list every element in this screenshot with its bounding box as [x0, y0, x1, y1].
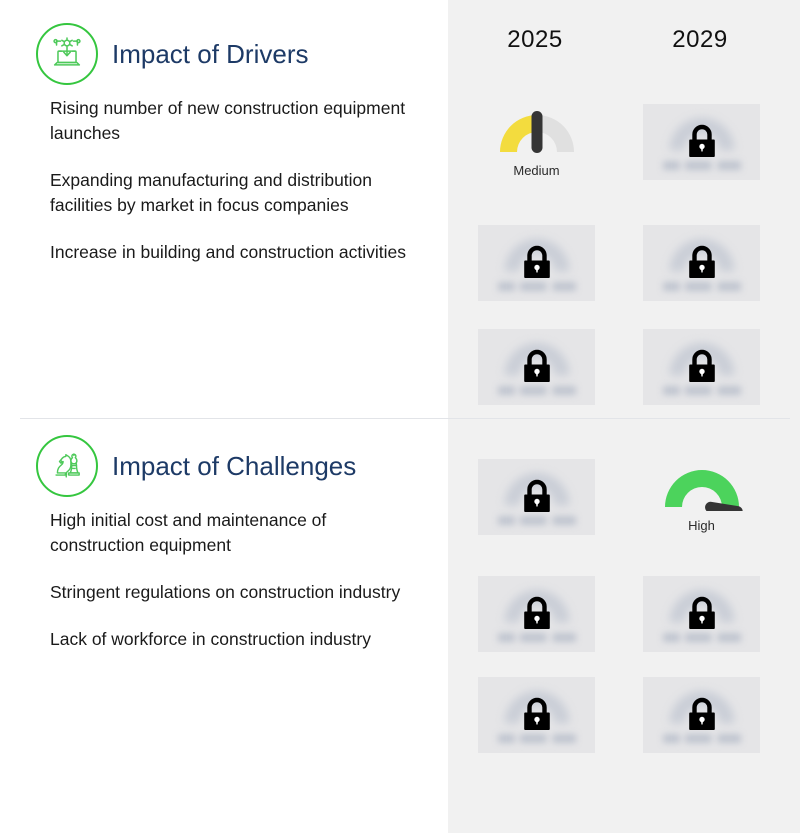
blurred-label-placeholder: [498, 282, 576, 291]
locked-metric[interactable]: [643, 225, 760, 301]
gauge-medium-svg: [496, 106, 578, 156]
metric-cell-drivers-1-2025[interactable]: [478, 225, 595, 301]
locked-metric[interactable]: [478, 677, 595, 753]
section-title-challenges: Impact of Challenges: [112, 451, 356, 482]
lock-icon: [685, 348, 719, 386]
gauge-level-label: Medium: [478, 163, 595, 178]
metric-cell-challenges-1-2025[interactable]: [478, 576, 595, 652]
lock-icon: [520, 595, 554, 633]
locked-metric[interactable]: [643, 104, 760, 180]
section-divider: [20, 418, 790, 419]
list-item: Expanding manufacturing and distribution…: [0, 168, 448, 218]
blurred-label-placeholder: [663, 633, 741, 642]
list-item: High initial cost and maintenance of con…: [0, 508, 448, 558]
blurred-label-placeholder: [498, 633, 576, 642]
metric-cell-challenges-2-2029[interactable]: [643, 677, 760, 753]
blurred-label-placeholder: [663, 282, 741, 291]
column-header-row: 2025 2029: [448, 0, 800, 80]
locked-metric[interactable]: [478, 459, 595, 535]
locked-metric[interactable]: [478, 576, 595, 652]
section-challenges: Impact of Challenges High initial cost a…: [0, 430, 448, 652]
metric-cell-challenges-0-2029[interactable]: High: [643, 459, 760, 535]
lock-icon: [685, 244, 719, 282]
list-item: Lack of workforce in construction indust…: [0, 627, 448, 652]
lock-icon: [520, 696, 554, 734]
locked-metric[interactable]: [478, 225, 595, 301]
metric-cell-drivers-0-2025[interactable]: Medium: [478, 104, 595, 180]
metric-cell-challenges-0-2025[interactable]: [478, 459, 595, 535]
gauge-level-label: High: [643, 518, 760, 533]
lock-icon: [520, 244, 554, 282]
gauge-icon: Medium: [478, 104, 595, 180]
locked-metric[interactable]: [643, 677, 760, 753]
blurred-label-placeholder: [498, 734, 576, 743]
lock-icon: [685, 696, 719, 734]
list-item: Rising number of new construction equipm…: [0, 96, 448, 146]
list-item: Stringent regulations on construction in…: [0, 580, 448, 605]
section-header-drivers: Impact of Drivers: [0, 18, 448, 90]
lock-icon: [685, 595, 719, 633]
blurred-label-placeholder: [498, 516, 576, 525]
chess-pieces-icon: [36, 435, 98, 497]
construction-equipment-launch-icon: [36, 23, 98, 85]
metric-cell-drivers-2-2025[interactable]: [478, 329, 595, 405]
metric-cell-challenges-2-2025[interactable]: [478, 677, 595, 753]
locked-metric[interactable]: [643, 329, 760, 405]
lock-icon: [685, 123, 719, 161]
gauge-high-svg: [661, 461, 743, 511]
column-header-2025: 2025: [455, 26, 615, 54]
list-item: Increase in building and construction ac…: [0, 240, 448, 265]
challenges-item-list: High initial cost and maintenance of con…: [0, 508, 448, 652]
blurred-label-placeholder: [498, 386, 576, 395]
blurred-label-placeholder: [663, 734, 741, 743]
drivers-item-list: Rising number of new construction equipm…: [0, 96, 448, 265]
blurred-label-placeholder: [663, 386, 741, 395]
locked-metric[interactable]: [643, 576, 760, 652]
section-title-drivers: Impact of Drivers: [112, 39, 309, 70]
metric-cell-challenges-1-2029[interactable]: [643, 576, 760, 652]
impact-matrix-root: 2025 2029: [0, 0, 800, 833]
lock-icon: [520, 478, 554, 516]
metric-cell-drivers-2-2029[interactable]: [643, 329, 760, 405]
section-drivers: Impact of Drivers Rising number of new c…: [0, 18, 448, 265]
locked-metric[interactable]: [478, 329, 595, 405]
column-header-2029: 2029: [620, 26, 780, 54]
blurred-label-placeholder: [663, 161, 741, 170]
metric-cell-drivers-0-2029[interactable]: [643, 104, 760, 180]
gauge-icon: High: [643, 459, 760, 535]
metric-cell-drivers-1-2029[interactable]: [643, 225, 760, 301]
lock-icon: [520, 348, 554, 386]
section-header-challenges: Impact of Challenges: [0, 430, 448, 502]
